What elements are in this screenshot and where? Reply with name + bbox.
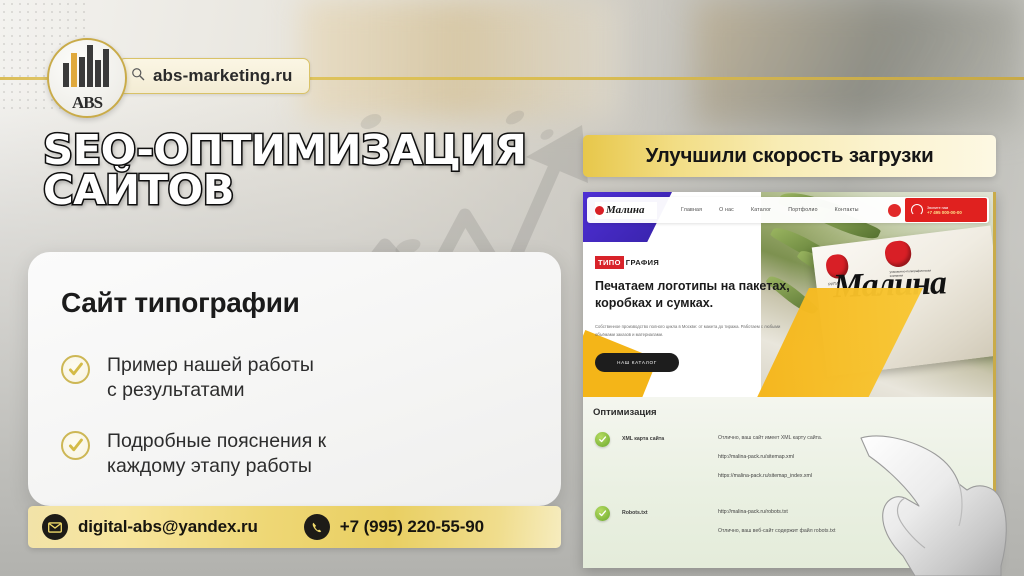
phone-contact[interactable]: +7 (995) 220-55-90 — [304, 514, 484, 540]
mockup-nav-logo-text: Малина — [606, 204, 645, 216]
search-icon[interactable] — [888, 204, 901, 217]
mockup-hero: РИТА Малина упаковочно-полиграфическая к… — [583, 192, 993, 404]
catalog-button[interactable]: НАШ КАТАЛОГ — [595, 353, 679, 372]
site-url-pill[interactable]: abs-marketing.ru — [118, 58, 310, 94]
result-banner: Улучшили скорость загрузки — [583, 135, 996, 177]
contact-bar: digital-abs@yandex.ru +7 (995) 220-55-90 — [28, 506, 561, 548]
page-title-line1: SEO-ОПТИМИЗАЦИЯ — [43, 131, 553, 171]
nav-link-portfolio[interactable]: Портфолио — [788, 207, 817, 213]
result-banner-label: Улучшили скорость загрузки — [645, 144, 933, 168]
check-circle-icon — [61, 431, 90, 460]
brand-logo[interactable]: ABS — [47, 38, 127, 118]
nav-link-home[interactable]: Главная — [681, 207, 702, 213]
info-card: Сайт типографии Пример нашей работы с ре… — [28, 252, 561, 506]
site-url-text: abs-marketing.ru — [153, 66, 293, 86]
mockup-hero-subtext: Собственное производство полного цикла в… — [595, 323, 791, 340]
optimization-row-message: Отлично, ваш сайт имеет XML карту сайта. — [718, 435, 822, 441]
mockup-nav-logo[interactable]: Малина — [595, 202, 657, 219]
optimization-row-body: Отлично, ваш сайт имеет XML карту сайта.… — [718, 432, 822, 492]
email-text: digital-abs@yandex.ru — [78, 517, 258, 537]
optimization-row-url[interactable]: https://malina-pack.ru/sitemap_index.xml — [718, 473, 822, 479]
feature-item: Подробные пояснения к каждому этапу рабо… — [61, 429, 561, 479]
nav-link-catalog[interactable]: Каталог — [751, 207, 771, 213]
check-circle-icon — [61, 355, 90, 384]
tipografia-badge: ТИПО ГРАФИЯ — [595, 256, 661, 269]
email-contact[interactable]: digital-abs@yandex.ru — [42, 514, 258, 540]
optimization-row-label: Robots.txt — [622, 506, 718, 516]
nav-link-about[interactable]: О нас — [719, 207, 734, 213]
mockup-hero-text: ТИПО ГРАФИЯ Печатаем логотипы на пакетах… — [595, 252, 805, 372]
mockup-navbar: Малина Главная О нас Каталог Портфолио К… — [587, 197, 989, 223]
catalog-button-label: НАШ КАТАЛОГ — [617, 360, 657, 365]
optimization-row-url[interactable]: http://malina-pack.ru/robots.txt — [718, 509, 835, 515]
feature-text: Подробные пояснения к каждому этапу рабо… — [107, 429, 326, 479]
raspberry-icon — [884, 239, 913, 268]
tipografia-badge-dark: ГРАФИЯ — [624, 256, 661, 269]
feature-item: Пример нашей работы с результатами — [61, 353, 561, 403]
check-circle-icon — [595, 506, 610, 521]
check-circle-icon — [595, 432, 610, 447]
optimization-row-message: Отлично, ваш веб-сайт содержит файл robo… — [718, 528, 835, 534]
page-title-line2: САЙТОВ — [43, 171, 553, 211]
phone-icon — [304, 514, 330, 540]
logo-mark: ABS — [59, 49, 115, 107]
search-icon — [131, 67, 145, 86]
optimization-row-url[interactable]: http://malina-pack.ru/sitemap.xml — [718, 454, 822, 460]
raspberry-icon — [595, 206, 604, 215]
mockup-hero-headline: Печатаем логотипы на пакетах, коробках и… — [595, 278, 805, 312]
tipografia-badge-red: ТИПО — [595, 256, 624, 269]
nav-link-contacts[interactable]: Контакты — [835, 207, 859, 213]
mockup-nav-links: Главная О нас Каталог Портфолио Контакты — [681, 207, 859, 213]
page-title: SEO-ОПТИМИЗАЦИЯ САЙТОВ — [43, 131, 553, 211]
logo-initials: ABS — [59, 97, 115, 108]
call-us-button[interactable]: Звоните нам +7 495 000-00-00 — [905, 198, 987, 222]
call-us-phone: +7 495 000-00-00 — [927, 210, 962, 215]
envelope-icon — [42, 514, 68, 540]
pointing-hand-icon — [859, 416, 1024, 576]
card-heading: Сайт типографии — [61, 287, 561, 319]
headset-icon — [911, 204, 923, 216]
phone-text: +7 (995) 220-55-90 — [340, 517, 484, 537]
optimization-row-label: XML карта сайта — [622, 432, 718, 442]
optimization-row-body: http://malina-pack.ru/robots.txt Отлично… — [718, 506, 835, 547]
feature-text: Пример нашей работы с результатами — [107, 353, 314, 403]
